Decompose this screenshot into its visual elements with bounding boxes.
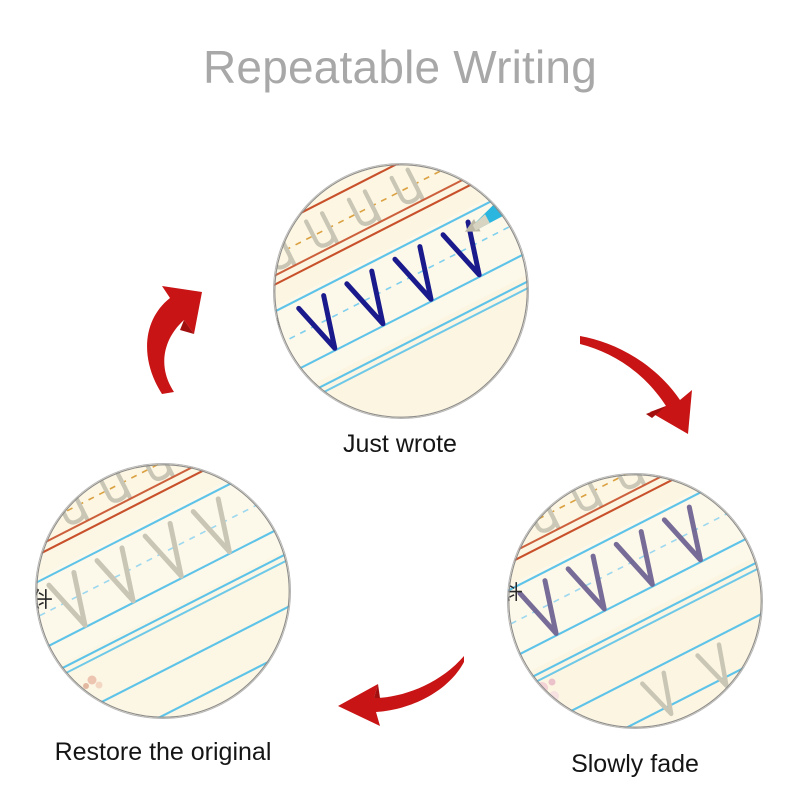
watermark-character: 伞 — [36, 588, 56, 610]
arrow-right-to-left-icon — [336, 650, 468, 742]
page-title: Repeatable Writing — [0, 44, 800, 90]
cycle-step-slowly-fade: 伞 — [508, 474, 762, 728]
cycle-step-just-wrote — [274, 164, 528, 418]
photo-slowly-fade: 伞 — [508, 474, 762, 728]
photo-restore-the-original: 伞 — [36, 464, 290, 718]
cycle-step-label-just-wrote: Just wrote — [230, 432, 570, 457]
watermark-character: 伞 — [508, 581, 525, 602]
cycle-step-restore-the-original: 伞 — [36, 464, 290, 718]
arrow-top-to-right-icon — [576, 326, 700, 448]
photo-just-wrote — [274, 164, 528, 418]
cycle-step-label-restore-the-original: Restore the original — [0, 740, 333, 765]
arrow-left-to-top-icon — [128, 278, 248, 396]
cycle-step-label-slowly-fade: Slowly fade — [465, 752, 800, 777]
